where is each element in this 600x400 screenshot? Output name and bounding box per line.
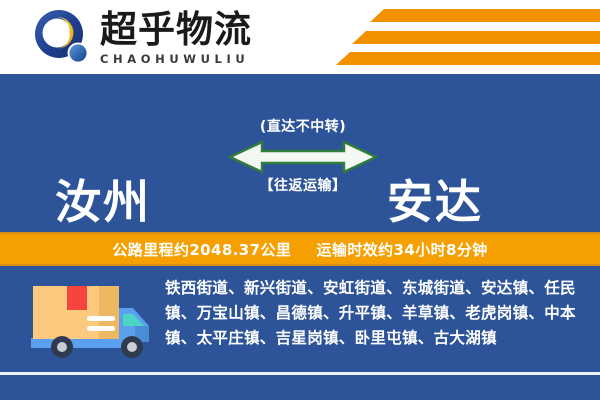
crescent-circle-logo-icon — [32, 8, 94, 66]
bottom-divider — [0, 372, 600, 375]
distance-label: 公路里程约2048.37公里 — [112, 241, 291, 259]
header-bar: 超乎物流 CHAOHUWULIU — [0, 0, 600, 74]
decorative-stripes — [340, 8, 600, 66]
distance-info-bar: 公路里程约2048.37公里 运输时效约34小时8分钟 — [0, 232, 600, 266]
logistics-route-poster: 超乎物流 CHAOHUWULIU 汝州 (直达不中转) 【往返运输】 安达 公路… — [0, 0, 600, 400]
coverage-area-list: 铁西街道、新兴街道、安虹街道、东城街道、安达镇、任民镇、万宝山镇、昌德镇、升平镇… — [165, 276, 585, 351]
double-headed-arrow-icon — [228, 140, 378, 174]
route-note-roundtrip: 【往返运输】 — [228, 177, 378, 195]
origin-city: 汝州 — [55, 177, 151, 227]
stripe-2 — [352, 31, 600, 44]
coverage-section: 铁西街道、新兴街道、安虹街道、东城街道、安达镇、任民镇、万宝山镇、昌德镇、升平镇… — [0, 266, 600, 400]
destination-city: 安达 — [387, 177, 483, 227]
brand-block: 超乎物流 CHAOHUWULIU — [32, 8, 252, 66]
brand-text-block: 超乎物流 CHAOHUWULIU — [100, 9, 252, 66]
route-middle-block: (直达不中转) 【往返运输】 — [228, 118, 378, 195]
stripe-1 — [370, 9, 600, 22]
delivery-truck-icon — [25, 276, 155, 366]
transit-time-label: 运输时效约34小时8分钟 — [317, 241, 488, 259]
stripe-3 — [336, 52, 600, 65]
route-note-direct: (直达不中转) — [228, 118, 378, 136]
route-section: 汝州 (直达不中转) 【往返运输】 安达 — [0, 74, 600, 232]
info-bar-text: 公路里程约2048.37公里 运输时效约34小时8分钟 — [112, 239, 487, 260]
brand-name-cn: 超乎物流 — [100, 9, 252, 51]
brand-name-en: CHAOHUWULIU — [100, 52, 252, 66]
